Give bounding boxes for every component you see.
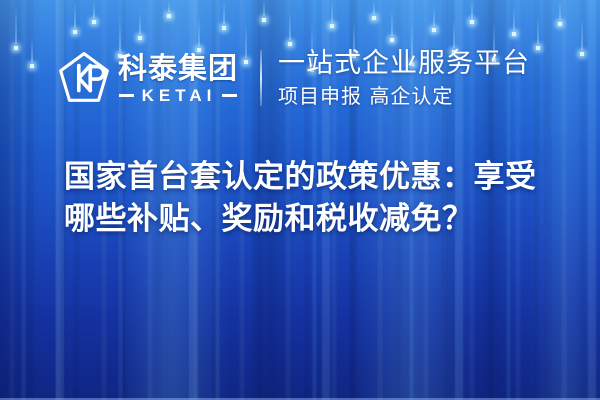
particle-trail	[560, 0, 561, 20]
falling-particle	[330, 0, 334, 28]
brand-lockup: 科泰集团 KETAI	[58, 51, 238, 105]
particle-head	[512, 32, 516, 36]
falling-particle	[512, 6, 516, 36]
falling-particle	[372, 0, 376, 20]
particle-trail	[374, 0, 375, 14]
falling-particle	[288, 12, 292, 46]
particle-trail	[16, 4, 17, 44]
particle-head	[372, 16, 376, 20]
brand-dash-left-icon	[119, 94, 134, 97]
falling-particle	[222, 0, 226, 30]
particle-trail	[75, 0, 76, 28]
particle-trail	[169, 0, 170, 12]
particle-head	[470, 20, 474, 24]
particle-head	[558, 22, 562, 26]
particle-head	[432, 28, 436, 32]
falling-particle	[432, 6, 436, 32]
page-title-line-2: 哪些补贴、奖励和税收减免？	[64, 198, 564, 240]
brand-dash-right-icon	[222, 94, 237, 97]
particle-trail	[332, 0, 333, 22]
brand-text-block: 科泰集团 KETAI	[118, 53, 238, 104]
particle-trail	[140, 12, 141, 34]
particle-trail	[290, 12, 291, 40]
falling-particle	[262, 0, 266, 22]
falling-particle	[470, 0, 474, 24]
falling-particle	[138, 12, 142, 40]
particle-head	[167, 14, 171, 18]
particle-head	[73, 30, 77, 34]
particle-head	[138, 36, 142, 40]
article-cover-banner: 科泰集团 KETAI 一站式企业服务平台 项目申报 高企认定 国家首台套认定的政…	[0, 0, 600, 400]
particle-head	[330, 24, 334, 28]
particle-trail	[434, 6, 435, 26]
falling-particle	[390, 10, 394, 42]
brand-name-cn: 科泰集团	[118, 53, 238, 83]
particle-trail	[392, 10, 393, 36]
falling-particle	[92, 0, 96, 24]
falling-particle	[558, 0, 562, 26]
ketai-diamond-kp-logo-icon	[58, 51, 110, 105]
tagline-sub: 项目申报 高企认定	[278, 84, 530, 108]
particle-head	[222, 26, 226, 30]
particle-trail	[514, 6, 515, 30]
banner-header: 科泰集团 KETAI 一站式企业服务平台 项目申报 高企认定	[0, 42, 600, 114]
particle-trail	[224, 0, 225, 24]
particle-trail	[472, 0, 473, 18]
particle-trail	[94, 0, 95, 18]
header-vertical-divider	[260, 50, 262, 106]
brand-name-en-row: KETAI	[118, 87, 238, 104]
page-title: 国家首台套认定的政策优惠：享受 哪些补贴、奖励和税收减免？	[64, 156, 564, 240]
brand-name-en: KETAI	[140, 87, 217, 104]
falling-particle	[167, 0, 171, 18]
particle-head	[262, 18, 266, 22]
tagline-block: 一站式企业服务平台 项目申报 高企认定	[278, 49, 530, 108]
page-title-line-1: 国家首台套认定的政策优惠：享受	[64, 156, 564, 198]
tagline-main: 一站式企业服务平台	[278, 49, 530, 79]
particle-trail	[538, 16, 539, 44]
falling-particle	[73, 0, 77, 34]
particle-head	[92, 20, 96, 24]
particle-trail	[264, 0, 265, 16]
